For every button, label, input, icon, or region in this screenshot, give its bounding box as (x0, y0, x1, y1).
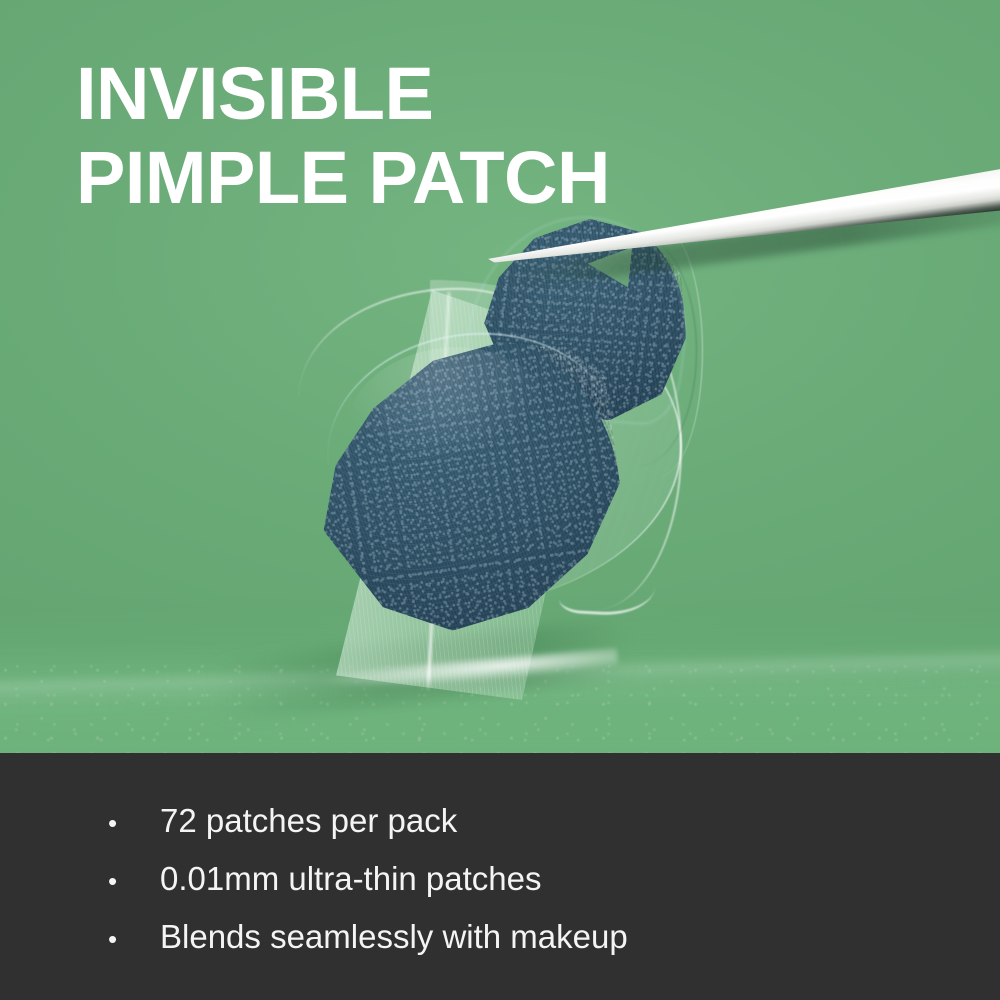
bullet-text: 0.01mm ultra-thin patches (160, 851, 542, 906)
feature-bullet-list: • 72 patches per pack • 0.01mm ultra-thi… (108, 793, 628, 967)
bullet-marker-icon: • (108, 854, 160, 909)
bullet-text: 72 patches per pack (160, 793, 457, 848)
feature-footer: • 72 patches per pack • 0.01mm ultra-thi… (0, 753, 1000, 1000)
headline-line-1: INVISIBLE (76, 52, 936, 136)
product-marketing-image: INVISIBLE PIMPLE PATCH • 72 patches per … (0, 0, 1000, 1000)
page-title: INVISIBLE PIMPLE PATCH (76, 52, 936, 220)
bullet-marker-icon: • (108, 796, 160, 851)
bullet-marker-icon: • (108, 912, 160, 967)
list-item: • 72 patches per pack (108, 793, 628, 851)
bullet-text: Blends seamlessly with makeup (160, 909, 628, 964)
headline-line-2: PIMPLE PATCH (76, 136, 936, 220)
hero-photo: INVISIBLE PIMPLE PATCH (0, 0, 1000, 753)
list-item: • Blends seamlessly with makeup (108, 909, 628, 967)
list-item: • 0.01mm ultra-thin patches (108, 851, 628, 909)
